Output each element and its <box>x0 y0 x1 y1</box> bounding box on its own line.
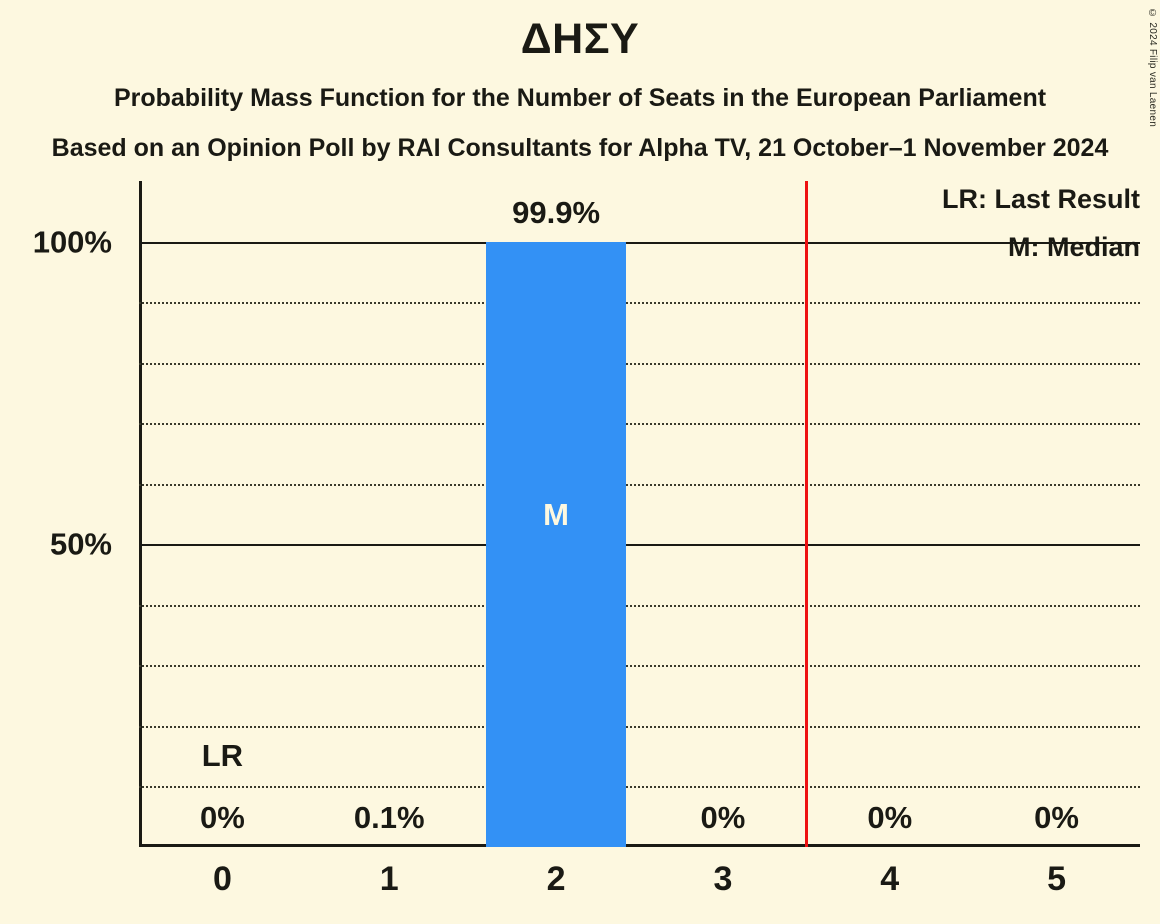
bar-value-label-4: 0% <box>806 802 973 833</box>
x-tick-label-0: 0 <box>139 862 306 896</box>
page-title: ΔΗΣΥ <box>0 18 1160 61</box>
bar-2[interactable] <box>486 242 626 847</box>
plot-area: 100%50% 0%LR0.1%99.9%M0%0%0% LR: Last Re… <box>139 181 1140 847</box>
median-marker: M <box>473 499 640 530</box>
bar-series: 0%LR0.1%99.9%M0%0%0% <box>139 181 1140 847</box>
bar-slot-0[interactable]: 0%LR <box>139 181 306 847</box>
bar-slot-2[interactable]: 99.9%M <box>473 181 640 847</box>
x-tick-label-1: 1 <box>306 862 473 896</box>
x-tick-label-2: 2 <box>473 862 640 896</box>
x-tick-labels: 012345 <box>139 862 1140 922</box>
bar-value-label-5: 0% <box>973 802 1140 833</box>
bar-slot-4[interactable]: 0% <box>806 181 973 847</box>
bar-slot-5[interactable]: 0% <box>973 181 1140 847</box>
x-tick-label-4: 4 <box>806 862 973 896</box>
x-tick-label-5: 5 <box>973 862 1140 896</box>
bar-value-label-2: 99.9% <box>473 197 640 228</box>
x-tick-label-3: 3 <box>640 862 807 896</box>
bar-slot-3[interactable]: 0% <box>640 181 807 847</box>
legend-last-result: LR: Last Result <box>942 186 1140 213</box>
legend-median: M: Median <box>1008 234 1140 261</box>
last-result-line <box>805 181 808 847</box>
y-tick-label-100: 100% <box>0 226 112 257</box>
chart-root: ΔΗΣΥ Probability Mass Function for the N… <box>0 0 1160 924</box>
bar-value-label-1: 0.1% <box>306 802 473 833</box>
bar-value-label-3: 0% <box>640 802 807 833</box>
chart-subtitle: Probability Mass Function for the Number… <box>0 86 1160 111</box>
copyright-notice: © 2024 Filip van Laenen <box>1147 8 1158 127</box>
bar-value-label-0: 0% <box>139 802 306 833</box>
last-result-marker: LR <box>139 740 306 771</box>
y-tick-label-50: 50% <box>0 529 112 560</box>
bar-slot-1[interactable]: 0.1% <box>306 181 473 847</box>
chart-source-line: Based on an Opinion Poll by RAI Consulta… <box>0 136 1160 161</box>
